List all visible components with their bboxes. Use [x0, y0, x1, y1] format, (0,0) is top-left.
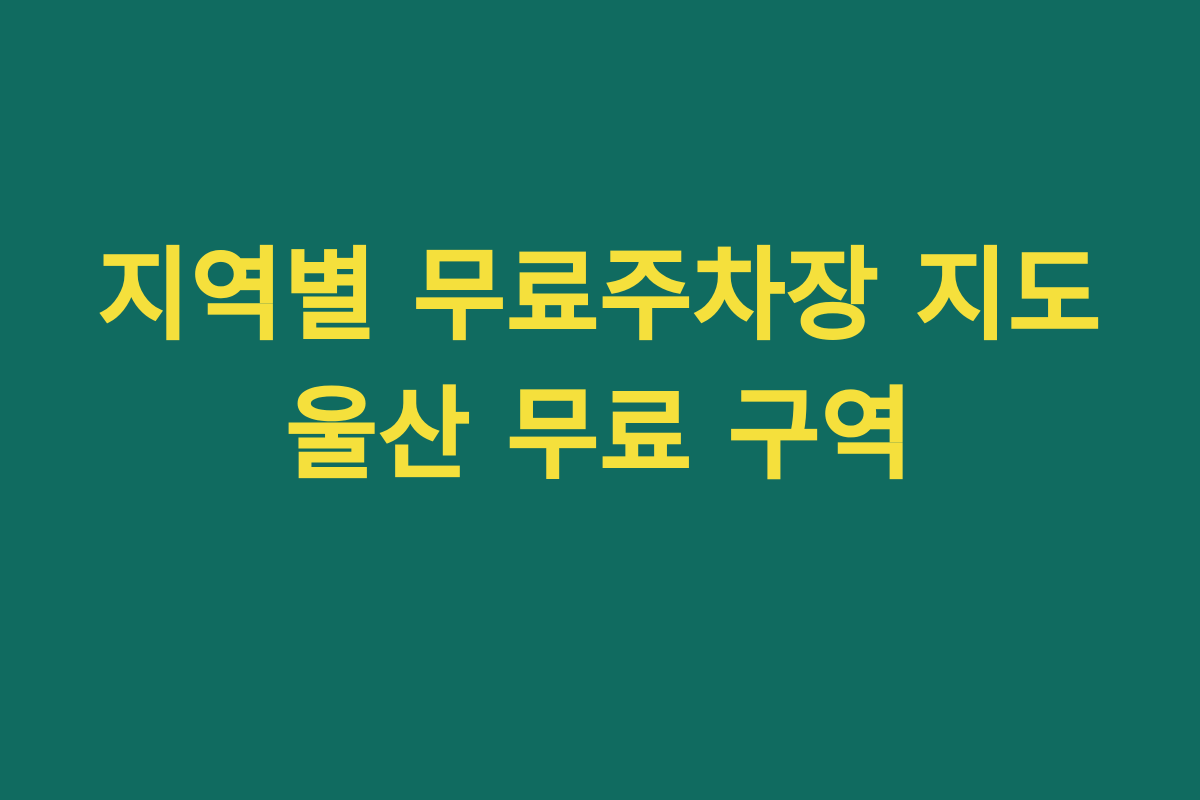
- title-banner: 지역별 무료주차장 지도 울산 무료 구역: [0, 0, 1200, 800]
- banner-title-line-2: 울산 무료 구역: [0, 366, 1200, 505]
- banner-title-line-1: 지역별 무료주차장 지도: [0, 226, 1200, 366]
- banner-title-block: 지역별 무료주차장 지도 울산 무료 구역: [0, 226, 1200, 505]
